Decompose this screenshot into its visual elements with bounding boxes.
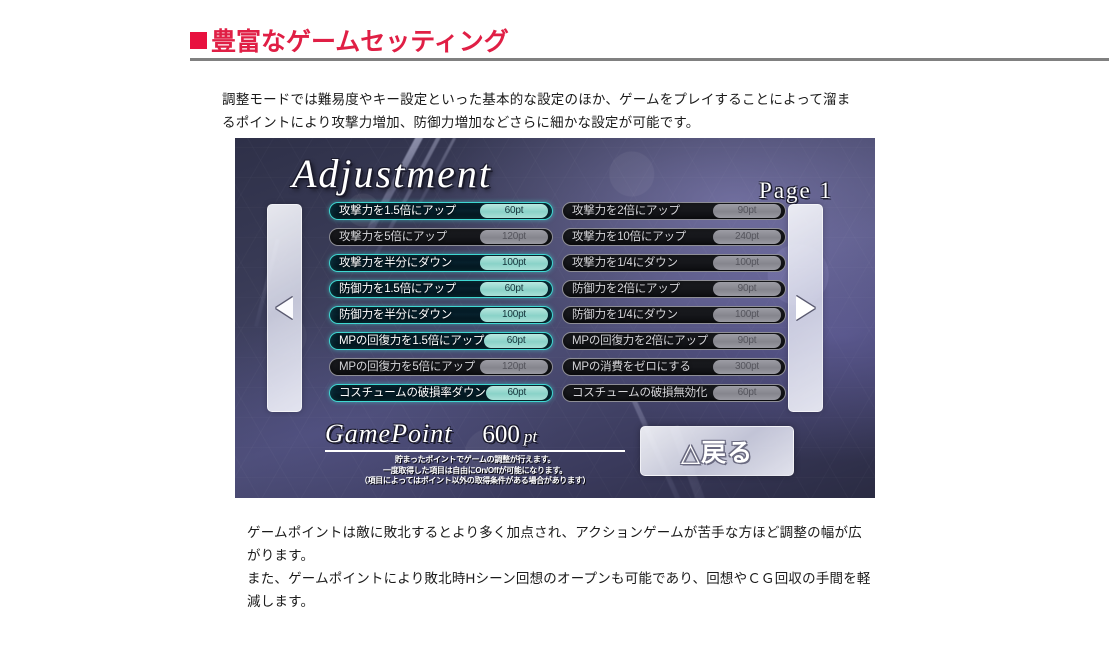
setting-item-cost: 100pt [713, 308, 781, 322]
setting-item[interactable]: MPの回復力を1.5倍にアップ60pt [329, 332, 553, 350]
setting-item-label: コスチュームの破損無効化 [563, 386, 713, 400]
triangle-left-icon [276, 297, 293, 319]
setting-item-cost: 60pt [486, 386, 548, 400]
setting-item-label: 攻撃力を1/4にダウン [563, 256, 713, 270]
setting-item-label: 攻撃力を5倍にアップ [330, 230, 480, 244]
gamepoint-label: GamePoint [325, 419, 452, 449]
game-screenshot-panel: Adjustment Page 1 攻撃力を1.5倍にアップ60pt攻撃力を5倍… [235, 138, 875, 498]
page-indicator: Page 1 [759, 178, 833, 204]
prev-page-button[interactable] [267, 204, 302, 412]
setting-item[interactable]: コスチュームの破損無効化60pt [562, 384, 786, 402]
intro-paragraph: 調整モードでは難易度やキー設定といった基本的な設定のほか、ゲームをプレイすること… [222, 88, 862, 134]
setting-item[interactable]: 防御力を1/4にダウン100pt [562, 306, 786, 324]
gamepoint-block: GamePoint 600 pt 貯まったポイントでゲームの調整が行えます。一度… [325, 419, 625, 487]
setting-item-label: コスチュームの破損率ダウン [330, 386, 486, 400]
setting-item-label: 攻撃力を10倍にアップ [563, 230, 713, 244]
setting-item-label: 防御力を1.5倍にアップ [330, 282, 480, 296]
setting-item-cost: 60pt [480, 282, 548, 296]
setting-item-label: MPの消費をゼロにする [563, 360, 713, 374]
outro-paragraph: ゲームポイントは敵に敗北するとより多く加点され、アクションゲームが苦手な方ほど調… [247, 521, 872, 613]
setting-item[interactable]: 攻撃力を2倍にアップ90pt [562, 202, 786, 220]
setting-item-cost: 90pt [713, 282, 781, 296]
setting-item[interactable]: MPの消費をゼロにする300pt [562, 358, 786, 376]
setting-item-label: 防御力を2倍にアップ [563, 282, 713, 296]
setting-item-cost: 90pt [713, 334, 781, 348]
setting-item-cost: 300pt [713, 360, 781, 374]
setting-item[interactable]: 攻撃力を1/4にダウン100pt [562, 254, 786, 272]
setting-item[interactable]: 防御力を2倍にアップ90pt [562, 280, 786, 298]
gamepoint-row: GamePoint 600 pt [325, 419, 625, 452]
setting-item[interactable]: 攻撃力を10倍にアップ240pt [562, 228, 786, 246]
gamepoint-note-line: 貯まったポイントでゲームの調整が行えます。 [325, 455, 625, 466]
gamepoint-unit: pt [524, 427, 537, 447]
back-button-label: △戻る [681, 433, 753, 469]
setting-item-label: 攻撃力を半分にダウン [330, 256, 480, 270]
screen-title: Adjustment [292, 150, 492, 197]
outro-line: また、ゲームポイントにより敗北時Hシーン回想のオープンも可能であり、回想やＣＧ回… [247, 571, 871, 609]
setting-item[interactable]: 攻撃力を1.5倍にアップ60pt [329, 202, 553, 220]
settings-column-left: 攻撃力を1.5倍にアップ60pt攻撃力を5倍にアップ120pt攻撃力を半分にダウ… [329, 202, 553, 410]
gamepoint-notes: 貯まったポイントでゲームの調整が行えます。一度取得した項目は自由にOn/Offが… [325, 455, 625, 487]
heading-divider [190, 58, 1109, 61]
setting-item-cost: 60pt [484, 334, 548, 348]
setting-item[interactable]: 防御力を半分にダウン100pt [329, 306, 553, 324]
setting-item-cost: 120pt [480, 360, 548, 374]
square-bullet-icon [190, 32, 207, 49]
settings-column-right: 攻撃力を2倍にアップ90pt攻撃力を10倍にアップ240pt攻撃力を1/4にダウ… [562, 202, 786, 410]
page-title: 豊富なゲームセッティング [211, 27, 509, 57]
setting-item[interactable]: MPの回復力を5倍にアップ120pt [329, 358, 553, 376]
setting-item-label: 防御力を半分にダウン [330, 308, 480, 322]
setting-item-cost: 60pt [713, 386, 781, 400]
setting-item[interactable]: 防御力を1.5倍にアップ60pt [329, 280, 553, 298]
next-page-button[interactable] [788, 204, 823, 412]
setting-item-cost: 120pt [480, 230, 548, 244]
setting-item-cost: 100pt [713, 256, 781, 270]
setting-item-cost: 100pt [480, 308, 548, 322]
gamepoint-value: 600 [482, 421, 520, 449]
triangle-right-icon [796, 296, 815, 320]
setting-item-cost: 240pt [713, 230, 781, 244]
setting-item-label: MPの回復力を2倍にアップ [563, 334, 713, 348]
page-heading: 豊富なゲームセッティング [190, 27, 1109, 61]
setting-item-cost: 90pt [713, 204, 781, 218]
setting-item-label: MPの回復力を1.5倍にアップ [330, 334, 484, 348]
outro-line: ゲームポイントは敵に敗北するとより多く加点され、アクションゲームが苦手な方ほど調… [247, 525, 862, 563]
gamepoint-note-line: 一度取得した項目は自由にOn/Offが可能になります。 [325, 466, 625, 477]
setting-item[interactable]: MPの回復力を2倍にアップ90pt [562, 332, 786, 350]
setting-item-label: MPの回復力を5倍にアップ [330, 360, 480, 374]
back-button[interactable]: △戻る [640, 426, 794, 476]
setting-item[interactable]: 攻撃力を5倍にアップ120pt [329, 228, 553, 246]
setting-item[interactable]: 攻撃力を半分にダウン100pt [329, 254, 553, 272]
setting-item-cost: 60pt [480, 204, 548, 218]
gamepoint-note-line: （項目によってはポイント以外の取得条件がある場合があります） [325, 476, 625, 487]
setting-item[interactable]: コスチュームの破損率ダウン60pt [329, 384, 553, 402]
setting-item-label: 攻撃力を1.5倍にアップ [330, 204, 480, 218]
setting-item-label: 防御力を1/4にダウン [563, 308, 713, 322]
setting-item-cost: 100pt [480, 256, 548, 270]
setting-item-label: 攻撃力を2倍にアップ [563, 204, 713, 218]
